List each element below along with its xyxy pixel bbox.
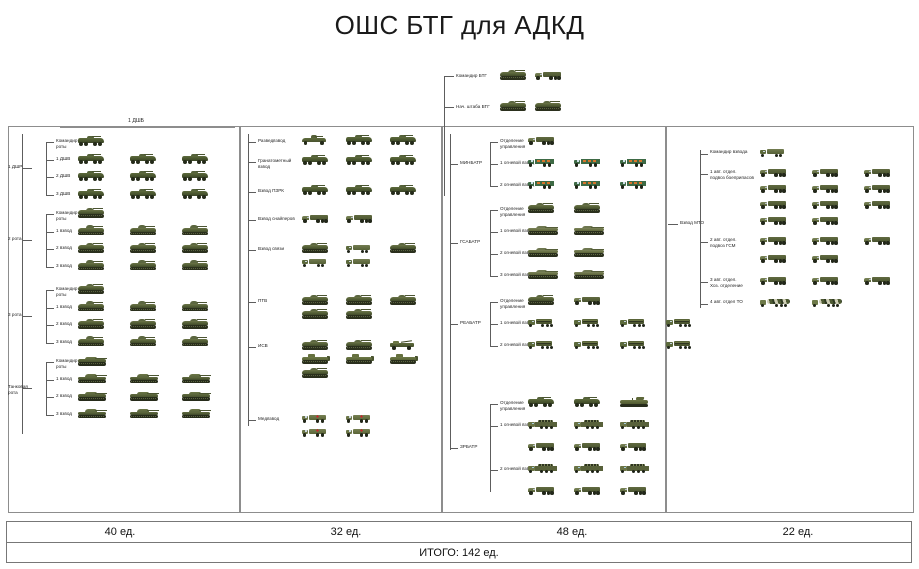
vehicle-slot [760, 184, 790, 194]
vehicle-slot [574, 180, 604, 190]
cargo-truck-icon [574, 296, 600, 305]
vehicle-slot [78, 410, 108, 420]
vehicle-slot [182, 375, 212, 385]
vehicle-slot [528, 180, 558, 190]
mortar-carrier-icon [620, 180, 646, 189]
col1-row-branch-0-3 [46, 195, 54, 196]
vehicle-slot [182, 155, 212, 165]
ifv-bmp-icon [346, 341, 372, 350]
air-defence-system-icon [574, 420, 604, 430]
ifv-bmp-icon [182, 338, 208, 347]
atgm-jeep-icon [390, 341, 414, 350]
vehicle-slot [760, 276, 790, 286]
vehicle-slot [346, 156, 376, 166]
vehicle-slot [78, 209, 108, 219]
apc-btr-icon [182, 172, 208, 181]
col2-branch-4 [248, 250, 256, 251]
col3-row-branch-1-0 [490, 210, 498, 211]
tank-icon [78, 357, 106, 366]
vehicle-slot [528, 248, 558, 258]
col2-row-label-3: Взвод снайперов [258, 216, 295, 222]
col3-row-label-2-0: Отделение управления [500, 298, 525, 310]
cargo-truck-icon [760, 184, 786, 193]
ifv-bmp-icon [182, 262, 208, 271]
col1-row-branch-3-2 [46, 397, 54, 398]
apc-btr-icon [78, 137, 104, 146]
cargo-truck-icon [346, 214, 372, 223]
ifv-bmp-icon [390, 244, 416, 253]
vehicle-slot [812, 276, 842, 286]
col1-row-label-3-0: Командир роты [56, 358, 77, 370]
command-van-icon [302, 258, 326, 267]
vehicle-slot [574, 204, 604, 214]
tank-icon [78, 392, 106, 401]
mortar-carrier-icon [620, 158, 646, 167]
mto-row-label-0: Командир взвода [710, 149, 747, 155]
vehicle-slot [760, 236, 790, 246]
fuel-tanker-icon [812, 298, 842, 308]
hq-branch-line [444, 76, 454, 77]
summary-count-3: 48 ед. [459, 522, 685, 542]
vehicle-slot [760, 298, 790, 308]
ambulance-icon [302, 428, 326, 437]
ifv-bmp-icon [130, 262, 156, 271]
vehicle-slot [302, 244, 332, 254]
engineering-vehicle-icon [346, 355, 374, 364]
col3-group-label-1: ГСАБАТР [460, 239, 480, 245]
col1-row-label-0-2: 2 ДШВ [56, 173, 70, 179]
mlrs-icon [666, 340, 694, 350]
apc-btr-icon [78, 190, 104, 199]
vehicle-slot [528, 296, 558, 306]
summary-total: ИТОГО: 142 ед. [7, 543, 911, 563]
self-propelled-gun-icon [574, 270, 604, 279]
col1-row-branch-0-0 [46, 142, 54, 143]
col3-group-branch-2 [450, 324, 458, 325]
vehicle-slot [500, 102, 530, 112]
col1-row-branch-3-0 [46, 362, 54, 363]
col1-row-label-2-1: 1 взвод [56, 304, 72, 310]
air-defence-system-icon [528, 464, 558, 474]
mlrs-icon [620, 340, 648, 350]
vehicle-slot [182, 392, 212, 402]
command-van-icon [346, 244, 370, 253]
col2-row-label-2: Взвод ПЗРК [258, 188, 284, 194]
vehicle-slot [302, 258, 332, 268]
apc-btr-icon [78, 155, 104, 164]
col1-row-label-3-2: 2 взвод [56, 393, 72, 399]
summary-count-4: 22 ед. [685, 522, 911, 542]
col1-row-label-2-3: 3 взвод [56, 339, 72, 345]
cargo-truck-icon [812, 200, 838, 209]
col3-group-branch-1 [450, 243, 458, 244]
ifv-bmp-icon [78, 303, 104, 312]
vehicle-slot [182, 190, 212, 200]
engineering-vehicle-icon [302, 355, 330, 364]
radar-vehicle-icon [620, 398, 648, 408]
apc-btr-icon [528, 398, 554, 407]
vehicle-slot [130, 338, 160, 348]
mortar-carrier-icon [574, 158, 600, 167]
cargo-truck-icon [864, 184, 890, 193]
vehicle-slot [760, 148, 790, 158]
ifv-bmp-icon [535, 102, 561, 111]
mlrs-icon [620, 318, 648, 328]
col3-row-label-0-0: Отделение управления [500, 138, 525, 150]
recon-vehicle-icon [302, 136, 326, 145]
vehicle-slot [574, 318, 604, 328]
self-propelled-gun-icon [528, 248, 558, 257]
vehicle-slot [528, 270, 558, 280]
col1-row-label-1-2: 2 взвод [56, 245, 72, 251]
col2-row-label-0: Разведвзвод [258, 138, 285, 144]
vehicle-slot [130, 320, 160, 330]
ifv-bmp-icon [78, 320, 104, 329]
mto-row-label-7: 3 авт. отдел. Хоз. отделение [710, 277, 743, 289]
hq-item-label-1: Нач. штаба БТГ [456, 104, 490, 110]
col3-row-label-3-0: Отделение управления [500, 400, 525, 412]
vehicle-slot [500, 71, 530, 81]
mlrs-icon [574, 340, 602, 350]
apc-btr-icon [390, 156, 416, 165]
col3-row-branch-3-3 [490, 470, 498, 471]
apc-btr-icon [574, 398, 600, 407]
col3-group-label-2: РЕАБАТР [460, 320, 481, 326]
ifv-bmp-icon [78, 209, 104, 218]
mortar-carrier-icon [528, 158, 554, 167]
ifv-bmp-icon [78, 244, 104, 253]
col1-row-label-1-3: 3 взвод [56, 263, 72, 269]
vehicle-slot [130, 392, 160, 402]
vehicle-slot [620, 318, 650, 328]
ifv-bmp-icon [130, 338, 156, 347]
vehicle-slot [302, 355, 332, 365]
vehicle-slot [620, 158, 650, 168]
summary-table: 40 ед. 32 ед. 48 ед. 22 ед. ИТОГО: 142 е… [6, 521, 912, 563]
apc-btr-icon [130, 155, 156, 164]
vehicle-slot [528, 464, 558, 474]
cargo-truck-icon [760, 276, 786, 285]
vehicle-slot [620, 180, 650, 190]
vehicle-slot [130, 244, 160, 254]
vehicle-slot [535, 71, 565, 81]
vehicle-slot [182, 320, 212, 330]
apc-btr-icon [346, 136, 372, 145]
ambulance-icon [346, 428, 370, 437]
ifv-bmp-icon [182, 244, 208, 253]
vehicle-slot [528, 486, 558, 496]
vehicle-slot [574, 340, 604, 350]
cargo-truck-icon [760, 254, 786, 263]
col1-row-label-1-1: 1 взвод [56, 228, 72, 234]
vehicle-slot [574, 464, 604, 474]
cargo-truck-icon [864, 276, 890, 285]
vehicle-slot [346, 136, 376, 146]
col3-spine [450, 134, 451, 450]
ifv-bmp-icon [78, 227, 104, 236]
col1-group-spine-3 [46, 362, 47, 415]
vehicle-slot [182, 172, 212, 182]
col2-row-label-4: Взвод связи [258, 246, 284, 252]
vehicle-slot [78, 262, 108, 272]
vehicle-slot [390, 156, 420, 166]
mto-row-label-8: 4 авт. отдел ТО [710, 299, 743, 305]
col2-branch-7 [248, 420, 256, 421]
tank-icon [182, 375, 210, 384]
vehicle-slot [528, 318, 558, 328]
cargo-truck-icon [864, 168, 890, 177]
vehicle-slot [528, 136, 558, 146]
cargo-truck-icon [760, 168, 786, 177]
vehicle-slot [130, 227, 160, 237]
col2-row-label-5: ПТВ [258, 298, 267, 304]
col1-row-branch-3-1 [46, 380, 54, 381]
vehicle-slot [302, 296, 332, 306]
vehicle-slot [574, 226, 604, 236]
vehicle-slot [78, 172, 108, 182]
col1-row-branch-0-1 [46, 160, 54, 161]
mto-branch-0 [700, 154, 708, 155]
vehicle-slot [528, 226, 558, 236]
vehicle-slot [812, 200, 842, 210]
ifv-bmp-icon [182, 303, 208, 312]
vehicle-slot [78, 392, 108, 402]
vehicle-slot [130, 172, 160, 182]
col1-row-branch-1-3 [46, 267, 54, 268]
vehicle-slot [302, 341, 332, 351]
col1-group-branch-1 [22, 240, 32, 241]
mlrs-icon [528, 318, 556, 328]
vehicle-slot [620, 442, 650, 452]
self-propelled-gun-icon [528, 270, 558, 279]
col1-group-spine-0 [46, 142, 47, 195]
col1-group-spine-2 [46, 290, 47, 343]
apc-btr-icon [130, 172, 156, 181]
vehicle-slot [346, 414, 376, 424]
col3-row-branch-1-3 [490, 276, 498, 277]
vehicle-slot [528, 340, 558, 350]
cargo-truck-icon [812, 184, 838, 193]
cargo-truck-icon [574, 442, 600, 451]
summary-counts-row: 40 ед. 32 ед. 48 ед. 22 ед. [7, 522, 911, 543]
mlrs-icon [528, 340, 556, 350]
cargo-truck-icon [812, 168, 838, 177]
cargo-truck-icon [528, 136, 554, 145]
col3-row-branch-0-1 [490, 164, 498, 165]
col1-group-label-2: 3 рота [8, 312, 22, 318]
ifv-bmp-icon [182, 320, 208, 329]
col3-row-branch-3-1 [490, 426, 498, 427]
vehicle-slot [760, 254, 790, 264]
air-defence-system-icon [620, 464, 650, 474]
col3-row-branch-1-2 [490, 254, 498, 255]
cargo-truck-icon [760, 200, 786, 209]
cargo-truck-icon [812, 254, 838, 263]
mto-row-label-5: 2 авт. отдел. подвоз ГСМ [710, 237, 737, 249]
tank-icon [78, 410, 106, 419]
cargo-truck-icon [574, 486, 600, 495]
vehicle-slot [302, 186, 332, 196]
tank-icon [130, 392, 158, 401]
col1-row-branch-0-2 [46, 177, 54, 178]
vehicle-slot [78, 244, 108, 254]
vehicle-slot [182, 410, 212, 420]
col1-group-branch-0 [22, 168, 32, 169]
col3-row-branch-2-2 [490, 346, 498, 347]
vehicle-slot [78, 338, 108, 348]
vehicle-slot [78, 137, 108, 147]
vehicle-slot [130, 190, 160, 200]
col1-row-label-0-0: Командир роты [56, 138, 77, 150]
command-van-icon [760, 148, 784, 157]
vehicle-slot [574, 420, 604, 430]
vehicle-slot [78, 285, 108, 295]
vehicle-slot [130, 410, 160, 420]
vehicle-slot [130, 375, 160, 385]
vehicle-slot [620, 340, 650, 350]
mto-row-label-1: 1 авт. отдел. подвоз боеприпасов [710, 169, 754, 181]
vehicle-slot [574, 486, 604, 496]
col1-group-branch-2 [22, 316, 32, 317]
cargo-truck-icon [620, 442, 646, 451]
vehicle-slot [78, 227, 108, 237]
tank-icon [182, 410, 210, 419]
mto-branch-7 [700, 282, 708, 283]
vehicle-slot [346, 258, 376, 268]
col2-branch-2 [248, 192, 256, 193]
cargo-truck-icon [864, 200, 890, 209]
self-propelled-gun-icon [528, 226, 558, 235]
vehicle-slot [390, 244, 420, 254]
mto-branch-8 [700, 304, 708, 305]
vehicle-slot [78, 357, 108, 367]
tank-icon [130, 410, 158, 419]
vehicle-slot [528, 398, 558, 408]
col1-row-branch-2-3 [46, 343, 54, 344]
vehicle-slot [390, 355, 420, 365]
col1-group-label-1: 2 рота [8, 236, 22, 242]
vehicle-slot [528, 204, 558, 214]
col3-row-branch-3-0 [490, 404, 498, 405]
ifv-bmp-icon [130, 227, 156, 236]
ifv-bmp-icon [302, 310, 328, 319]
col1-row-label-3-3: 3 взвод [56, 411, 72, 417]
ifv-bmp-icon [528, 296, 554, 305]
cargo-truck-icon [760, 236, 786, 245]
vehicle-slot [760, 200, 790, 210]
vehicle-slot [346, 341, 376, 351]
col3-group-branch-3 [450, 448, 458, 449]
col1-row-label-3-1: 1 взвод [56, 376, 72, 382]
vehicle-slot [182, 262, 212, 272]
cargo-truck-icon [812, 236, 838, 245]
vehicle-slot [620, 420, 650, 430]
vehicle-slot [346, 186, 376, 196]
vehicle-slot [346, 296, 376, 306]
mto-branch-line [668, 224, 678, 225]
vehicle-slot [130, 262, 160, 272]
col3-row-branch-0-0 [490, 142, 498, 143]
vehicle-slot [302, 136, 332, 146]
vehicle-slot [574, 398, 604, 408]
vehicle-slot [864, 236, 894, 246]
col3-group-spine-1 [490, 210, 491, 276]
vehicle-slot [390, 136, 420, 146]
vehicle-slot [760, 216, 790, 226]
vehicle-slot [346, 214, 376, 224]
ifv-bmp-icon [130, 303, 156, 312]
summary-count-2: 32 ед. [233, 522, 459, 542]
ifv-bmp-icon [346, 310, 372, 319]
col1-group-label-0: 1 ДШР [8, 164, 22, 170]
vehicle-slot [182, 244, 212, 254]
vehicle-slot [760, 168, 790, 178]
cargo-truck-icon [528, 486, 554, 495]
ifv-bmp-icon [130, 320, 156, 329]
vehicle-slot [620, 398, 650, 408]
col1-row-label-1-0: Командир роты [56, 210, 77, 222]
vehicle-slot [666, 340, 696, 350]
ifv-bmp-icon [500, 71, 526, 80]
air-defence-system-icon [574, 464, 604, 474]
col2-branch-6 [248, 347, 256, 348]
col3-group-spine-3 [490, 404, 491, 492]
vehicle-slot [390, 186, 420, 196]
vehicle-slot [78, 155, 108, 165]
cargo-truck-icon [760, 216, 786, 225]
org-chart-page: ОШС БТГ для АДКД Командир БТГНач. штаба … [0, 0, 919, 569]
vehicle-slot [812, 168, 842, 178]
col2-branch-1 [248, 162, 256, 163]
col1-row-label-0-1: 1 ДШВ [56, 156, 70, 162]
apc-btr-icon [302, 186, 328, 195]
command-van-icon [346, 258, 370, 267]
col1-row-label-2-2: 2 взвод [56, 321, 72, 327]
apc-btr-icon [130, 190, 156, 199]
col3-row-branch-1-1 [490, 232, 498, 233]
vehicle-slot [390, 296, 420, 306]
vehicle-slot [346, 428, 376, 438]
vehicle-slot [302, 428, 332, 438]
cargo-truck-icon [864, 236, 890, 245]
vehicle-slot [346, 244, 376, 254]
vehicle-slot [620, 464, 650, 474]
vehicle-slot [812, 216, 842, 226]
mto-branch-5 [700, 242, 708, 243]
vehicle-slot [574, 296, 604, 306]
vehicle-slot [182, 303, 212, 313]
ifv-bmp-icon [182, 227, 208, 236]
col2-branch-5 [248, 302, 256, 303]
vehicle-slot [182, 227, 212, 237]
apc-btr-icon [390, 136, 416, 145]
ifv-bmp-icon [130, 244, 156, 253]
vehicle-slot [78, 190, 108, 200]
vehicle-slot [528, 158, 558, 168]
vehicle-slot [812, 184, 842, 194]
col2-spine [248, 134, 249, 426]
vehicle-slot [812, 298, 842, 308]
ifv-bmp-icon [302, 244, 328, 253]
ambulance-icon [302, 414, 326, 423]
mto-branch-1 [700, 174, 708, 175]
col2-row-label-6: ИСВ [258, 343, 268, 349]
mortar-carrier-icon [574, 180, 600, 189]
vehicle-slot [302, 369, 332, 379]
col1-header-label: 1 ДШБ [128, 118, 144, 125]
air-defence-system-icon [620, 420, 650, 430]
col3-row-branch-2-1 [490, 324, 498, 325]
